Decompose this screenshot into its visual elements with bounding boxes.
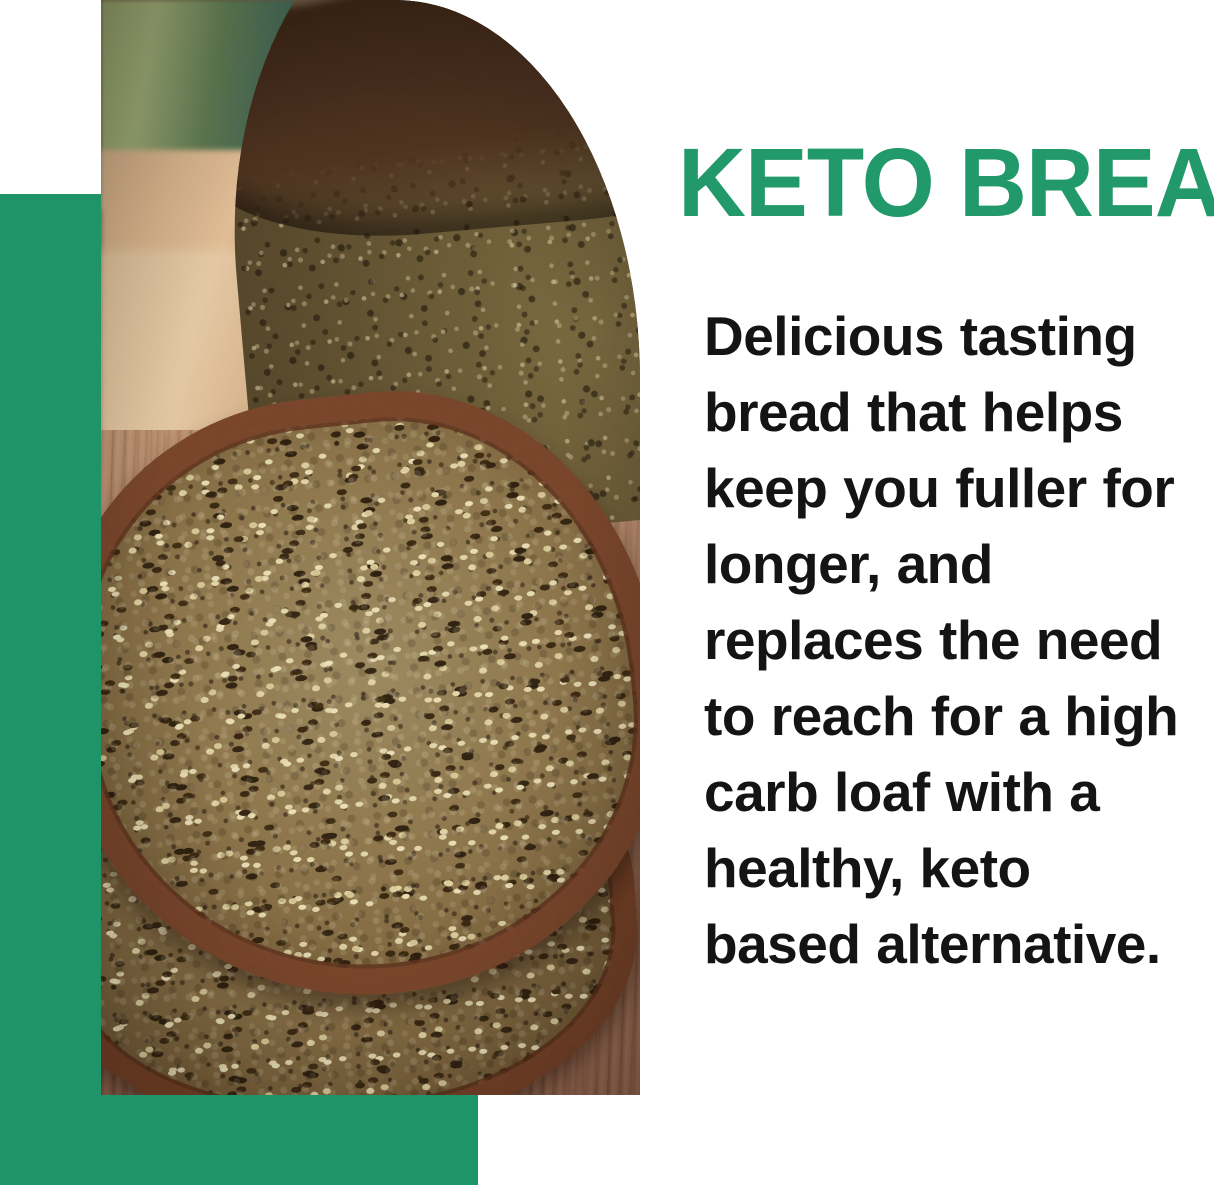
photo-inner (101, 0, 640, 1095)
body-line: bread that helps (704, 374, 1204, 450)
loaf-crust-highlight (239, 0, 640, 32)
body-line: replaces the need (704, 602, 1204, 678)
bread-slice-crust-top (101, 365, 640, 1024)
body-description: Delicious tasting bread that helps keep … (704, 298, 1204, 982)
body-line: to reach for a high (704, 678, 1204, 754)
body-line: keep you fuller for (704, 450, 1204, 526)
body-line: based alternative. (704, 906, 1204, 982)
body-line: carb loaf with a (704, 754, 1204, 830)
body-line: longer, and (704, 526, 1204, 602)
bread-slice-top (101, 365, 640, 1024)
body-line: healthy, keto (704, 830, 1204, 906)
page-title: KETO BREAD (678, 134, 1214, 231)
loaf-crust (203, 0, 640, 254)
keto-bread-photo (101, 0, 640, 1095)
promo-banner: KETO BREAD Delicious tasting bread that … (0, 0, 1214, 1185)
text-column: KETO BREAD Delicious tasting bread that … (676, 0, 1214, 1185)
body-line: Delicious tasting (704, 298, 1204, 374)
